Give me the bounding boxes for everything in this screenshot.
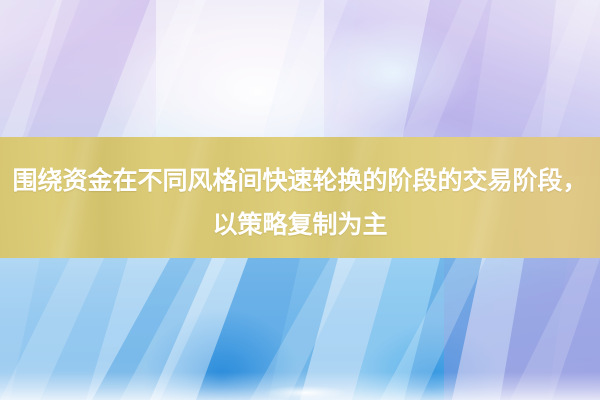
- caption-band: 围绕资金在不同风格间快速轮换的阶段的交易阶段，以策略复制为主: [0, 137, 600, 258]
- bottom-center-highlight: [264, 364, 348, 400]
- caption-text: 围绕资金在不同风格间快速轮换的阶段的交易阶段，以策略复制为主: [0, 159, 600, 247]
- banner-image: 围绕资金在不同风格间快速轮换的阶段的交易阶段，以策略复制为主: [0, 0, 600, 400]
